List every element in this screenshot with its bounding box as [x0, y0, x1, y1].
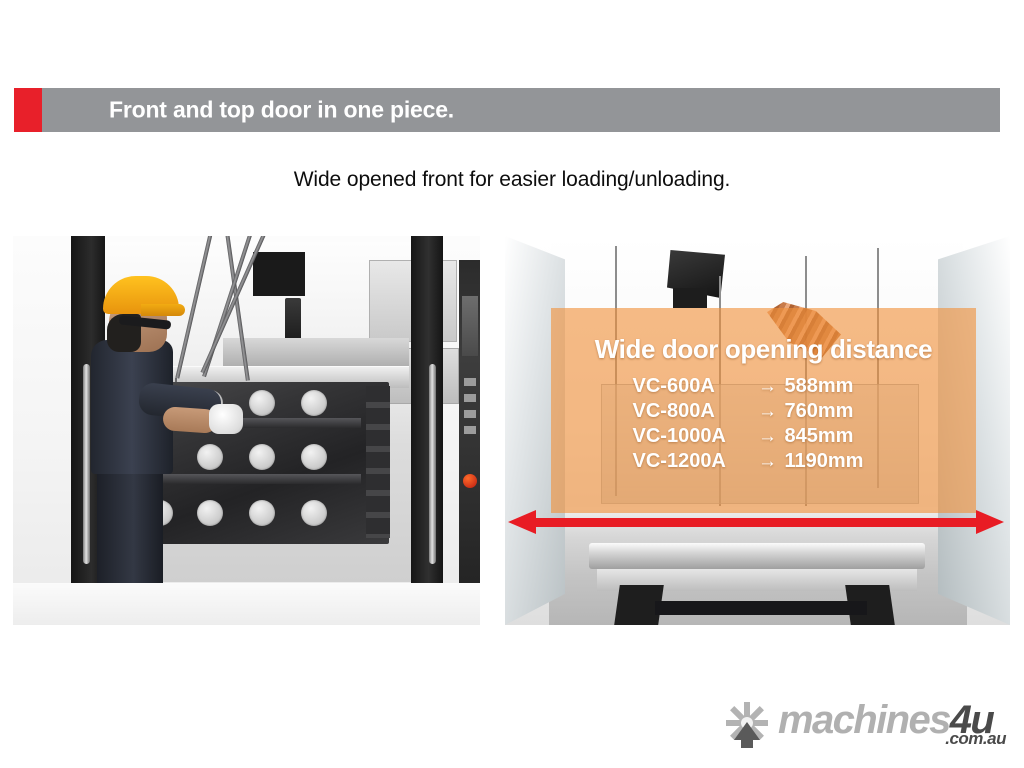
starburst-arrow-icon [722, 700, 772, 748]
spec-arrow-icon: → [751, 376, 785, 398]
spec-value: 845mm [785, 425, 895, 448]
operator-hard-hat-brim [141, 304, 185, 316]
workpiece-hole [197, 444, 223, 470]
spec-row: VC-1000A → 845mm [633, 425, 895, 448]
workpiece-hole [301, 500, 327, 526]
spindle-head [285, 298, 301, 340]
header-band: Front and top door in one piece. [14, 88, 1000, 132]
door-handle-left [83, 364, 90, 564]
bed-dark-band [655, 601, 867, 615]
spec-arrow-icon: → [751, 426, 785, 448]
logo-name-light: machines [778, 698, 950, 742]
spec-table: VC-600A → 588mm VC-800A → 760mm VC-1000A… [551, 375, 976, 473]
interior-dark-recess [253, 252, 305, 296]
spec-overlay-panel: Wide door opening distance VC-600A → 588… [551, 308, 976, 513]
arrow-head-left-icon [508, 510, 536, 534]
spec-row: VC-1200A → 1190mm [633, 450, 895, 473]
pendant-button [464, 378, 476, 386]
slide-canvas: Front and top door in one piece. Wide op… [0, 0, 1024, 768]
page-title: Front and top door in one piece. [109, 97, 454, 124]
workpiece-hole [301, 444, 327, 470]
spec-value: 760mm [785, 400, 895, 423]
spec-model: VC-600A [633, 375, 751, 398]
spec-value: 588mm [785, 375, 895, 398]
table-slideway-upper [589, 543, 925, 569]
workpiece-hole [301, 390, 327, 416]
operator-glove [209, 404, 243, 434]
arrow-shaft [534, 518, 978, 527]
pendant-button [464, 394, 476, 402]
workpiece-hole [197, 500, 223, 526]
pendant-screen [462, 296, 478, 356]
pendant-button [464, 410, 476, 418]
door-handle-right [429, 364, 436, 564]
emergency-stop-button [463, 474, 477, 488]
spindle-head-lower [673, 288, 707, 308]
shop-floor [13, 583, 480, 625]
photo-operator-loading [13, 236, 480, 625]
spec-model: VC-1000A [633, 425, 751, 448]
spec-panel-title: Wide door opening distance [551, 334, 976, 365]
logo-tld: .com.au [945, 729, 1006, 749]
spec-row: VC-600A → 588mm [633, 375, 895, 398]
header-accent-block [14, 88, 42, 132]
machine-column-right [411, 236, 443, 625]
door-width-dimension-arrow [508, 510, 1004, 534]
workpiece-hole [249, 444, 275, 470]
spec-arrow-icon: → [751, 401, 785, 423]
pendant-button [464, 426, 476, 434]
spec-model: VC-1200A [633, 450, 751, 473]
subtitle-text: Wide opened front for easier loading/unl… [0, 168, 1024, 192]
workpiece-rib [137, 474, 361, 484]
spec-value: 1190mm [785, 450, 895, 473]
spec-arrow-icon: → [751, 451, 785, 473]
spec-model: VC-800A [633, 400, 751, 423]
workpiece-hole [249, 500, 275, 526]
spec-row: VC-800A → 760mm [633, 400, 895, 423]
workpiece-hole [249, 390, 275, 416]
machines4u-logo: machines4u .com.au [722, 696, 1012, 754]
arrow-head-right-icon [976, 510, 1004, 534]
